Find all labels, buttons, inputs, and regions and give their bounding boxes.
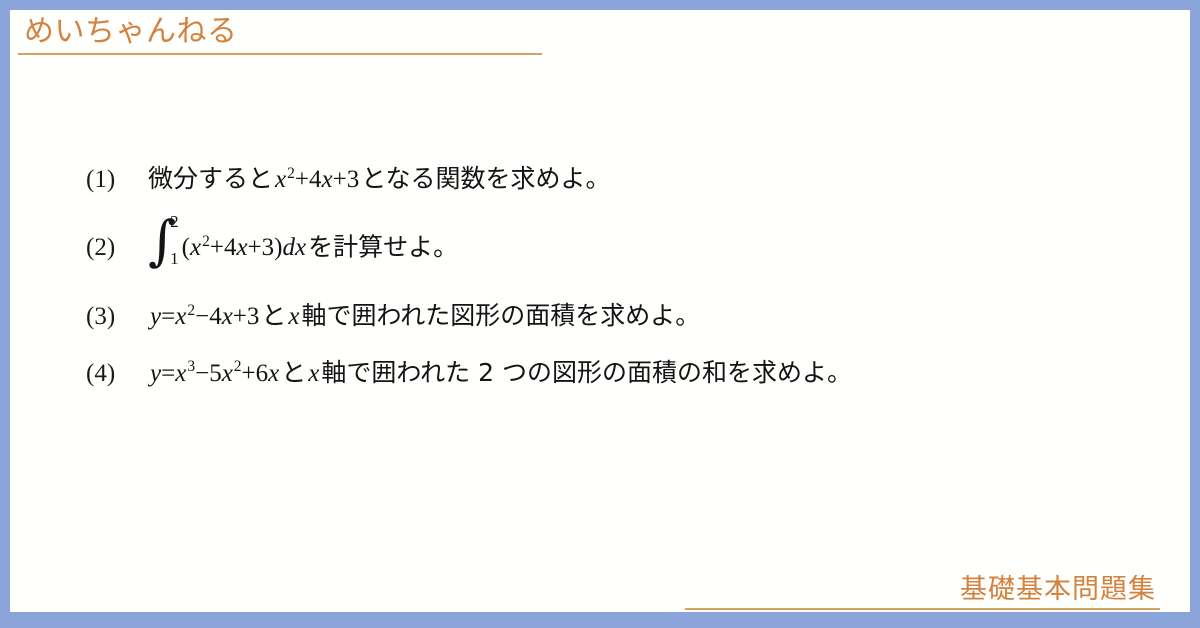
integral-sign-icon: ∫: [148, 222, 176, 261]
math-coefficient: 4: [224, 234, 237, 261]
math-operator: −: [195, 360, 209, 387]
math-coefficient: 4: [209, 303, 222, 330]
math-coefficient: 5: [209, 360, 222, 387]
math-coefficient: 4: [309, 166, 322, 193]
problem-number: (1): [86, 166, 148, 194]
math-operator: +: [295, 166, 309, 193]
math-var: x: [175, 360, 186, 387]
footer-divider: [685, 608, 1160, 610]
math-expression: y=x2−4x+3: [148, 303, 261, 330]
problem-text: ∫21(x2+4x+3)dxを計算せよ。: [148, 211, 458, 265]
math-axis-var: x: [286, 303, 301, 330]
math-expression: (x2+4x+3)dx: [180, 234, 308, 261]
math-coefficient: 6: [256, 360, 269, 387]
math-equals: =: [161, 303, 175, 330]
math-operator: +: [333, 166, 347, 193]
math-operator: +: [233, 303, 247, 330]
math-var: x: [190, 234, 201, 261]
math-var: x: [236, 234, 247, 261]
math-differential: dx: [282, 234, 306, 261]
math-expression: x2+4x+3: [273, 166, 361, 193]
header-divider: [18, 53, 542, 55]
problem-number: (2): [86, 234, 148, 262]
channel-title: めいちゃんねる: [18, 12, 542, 51]
math-equals: =: [161, 360, 175, 387]
problem-row: (1) 微分するとx2+4x+3となる関数を求めよ。: [86, 162, 1160, 197]
problem-tail-text: を計算せよ。: [308, 232, 458, 261]
math-constant: 3: [347, 166, 360, 193]
math-exponent: 2: [186, 302, 195, 319]
problem-text: y=x3−5x2+6xとx軸で囲われた 2 つの図形の面積の和を求めよ。: [148, 356, 852, 391]
problem-lead-text: 微分すると: [148, 164, 273, 193]
math-lhs: y: [150, 360, 161, 387]
problem-row: (2) ∫21(x2+4x+3)dxを計算せよ。: [86, 211, 1160, 265]
math-var: x: [321, 166, 332, 193]
problem-list: (1) 微分するとx2+4x+3となる関数を求めよ。 (2) ∫21(x2+4x…: [86, 162, 1160, 391]
problem-number: (3): [86, 303, 148, 331]
math-constant: 3: [262, 234, 275, 261]
math-var: x: [222, 303, 233, 330]
math-var: x: [275, 166, 286, 193]
math-expression: y=x3−5x2+6x: [148, 360, 281, 387]
math-constant: 3: [247, 303, 260, 330]
math-operator: +: [242, 360, 256, 387]
math-axis-var: x: [306, 360, 321, 387]
problem-text: 微分するとx2+4x+3となる関数を求めよ。: [148, 162, 610, 197]
problem-text: y=x2−4x+3とx軸で囲われた図形の面積を求めよ。: [148, 299, 700, 334]
problem-conjunction: と: [261, 301, 286, 330]
math-operator: −: [195, 303, 209, 330]
math-open-paren: (: [182, 234, 190, 261]
math-var: x: [268, 360, 279, 387]
math-var: x: [222, 360, 233, 387]
math-exponent: 3: [186, 358, 195, 375]
math-operator: +: [248, 234, 262, 261]
problem-row: (3) y=x2−4x+3とx軸で囲われた図形の面積を求めよ。: [86, 299, 1160, 334]
math-exponent: 2: [286, 165, 295, 182]
slide-frame: めいちゃんねる (1) 微分するとx2+4x+3となる関数を求めよ。 (2) ∫…: [0, 0, 1200, 628]
slide-page: めいちゃんねる (1) 微分するとx2+4x+3となる関数を求めよ。 (2) ∫…: [10, 10, 1190, 612]
slide-footer: 基礎基本問題集: [685, 573, 1160, 610]
footer-label: 基礎基本問題集: [685, 573, 1160, 607]
math-exponent: 2: [201, 233, 210, 250]
problem-number: (4): [86, 360, 148, 388]
slide-header: めいちゃんねる: [18, 12, 542, 55]
math-var: x: [175, 303, 186, 330]
integral-expression: ∫21: [148, 213, 179, 267]
math-operator: +: [210, 234, 224, 261]
math-lhs: y: [150, 303, 161, 330]
problem-tail-text: 軸で囲われた 2 つの図形の面積の和を求めよ。: [321, 358, 852, 387]
problem-tail-text: 軸で囲われた図形の面積を求めよ。: [302, 301, 701, 330]
problem-row: (4) y=x3−5x2+6xとx軸で囲われた 2 つの図形の面積の和を求めよ。: [86, 356, 1160, 391]
math-exponent: 2: [233, 358, 242, 375]
problem-tail-text: となる関数を求めよ。: [361, 164, 610, 193]
problem-conjunction: と: [281, 358, 306, 387]
